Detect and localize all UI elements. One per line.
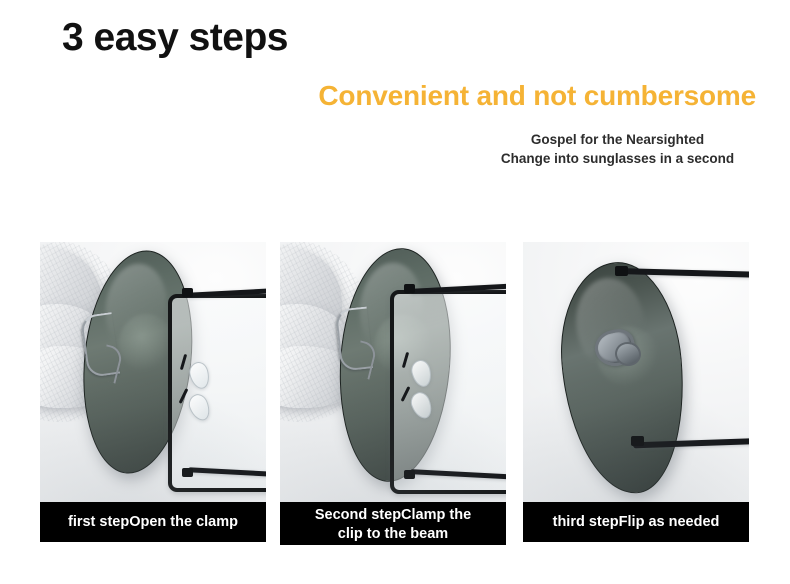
eyeglass-hinge: [404, 284, 415, 293]
accent-subtitle: Convenient and not cumbersome: [318, 81, 756, 112]
tagline-block: Gospel for the Nearsighted Change into s…: [480, 130, 755, 168]
step-panel-2: Second stepClamp the clip to the beam: [280, 242, 506, 545]
lens-reflection: [116, 311, 176, 374]
promo-banner: 3 easy steps Convenient and not cumberso…: [0, 0, 790, 584]
step-panel-3: third stepFlip as needed: [523, 242, 749, 542]
step-2-photo: [280, 242, 506, 545]
eyeglass-hinge: [182, 468, 193, 477]
step-3-photo: [523, 242, 749, 542]
eyeglass-hinge: [404, 470, 415, 479]
tagline-line-2: Change into sunglasses in a second: [480, 149, 755, 168]
caption-line: clip to the beam: [280, 525, 506, 544]
step-1-photo: [40, 242, 266, 542]
caption-line: third stepFlip as needed: [523, 513, 749, 532]
eyeglass-hinge: [631, 436, 644, 446]
step-3-caption: third stepFlip as needed: [523, 502, 749, 542]
eyeglass-hinge: [182, 288, 193, 297]
step-panel-1: first stepOpen the clamp: [40, 242, 266, 542]
clip-on-lens: [553, 257, 693, 499]
step-1-caption: first stepOpen the clamp: [40, 502, 266, 542]
caption-line: first stepOpen the clamp: [40, 513, 266, 532]
caption-line: Second stepClamp the: [280, 506, 506, 525]
step-2-caption: Second stepClamp the clip to the beam: [280, 502, 506, 545]
eyeglass-hinge: [615, 266, 628, 276]
page-title: 3 easy steps: [62, 18, 288, 59]
tagline-line-1: Gospel for the Nearsighted: [480, 130, 755, 149]
